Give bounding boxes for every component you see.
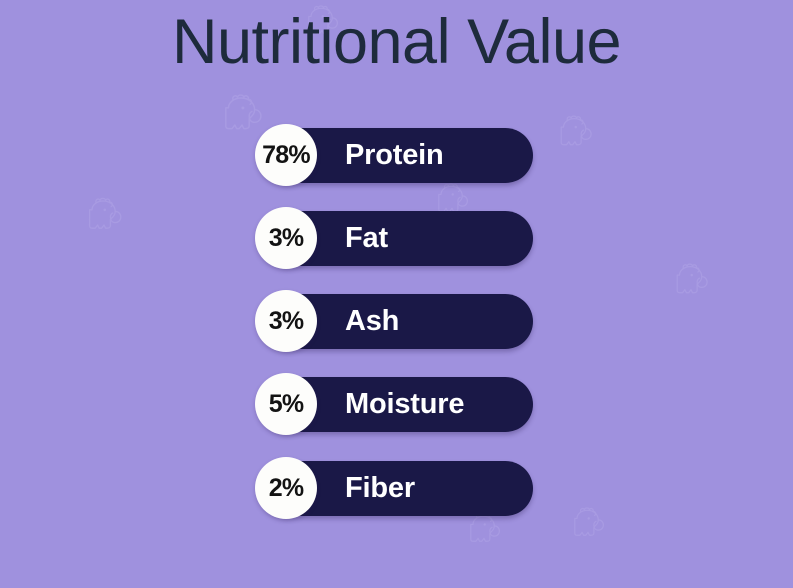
percent-badge: 3% — [255, 290, 317, 352]
nutritional-value-infographic: Nutritional Value Protein 78% Fat 3% Ash — [0, 0, 793, 588]
nutrient-label: Moisture — [345, 377, 464, 432]
nutrient-label: Fiber — [345, 461, 415, 516]
chicken-head-icon — [668, 258, 714, 306]
nutrient-label: Fat — [345, 211, 388, 266]
chicken-head-icon — [566, 502, 610, 548]
nutrient-row: Protein 78% — [255, 124, 533, 188]
percent-value: 78% — [262, 143, 310, 168]
page-title: Nutritional Value — [0, 4, 793, 80]
chicken-head-icon — [80, 192, 128, 242]
percent-value: 2% — [269, 476, 304, 501]
nutrient-row: Moisture 5% — [255, 373, 533, 437]
percent-badge: 78% — [255, 124, 317, 186]
percent-value: 5% — [269, 392, 304, 417]
nutrient-row: Fat 3% — [255, 207, 533, 271]
percent-value: 3% — [269, 309, 304, 334]
percent-badge: 2% — [255, 457, 317, 519]
percent-badge: 3% — [255, 207, 317, 269]
percent-value: 3% — [269, 226, 304, 251]
nutrient-row: Ash 3% — [255, 290, 533, 354]
nutrient-row: Fiber 2% — [255, 457, 533, 521]
chicken-head-icon — [552, 110, 598, 158]
percent-badge: 5% — [255, 373, 317, 435]
nutrient-label: Protein — [345, 128, 444, 183]
nutrient-label: Ash — [345, 294, 399, 349]
